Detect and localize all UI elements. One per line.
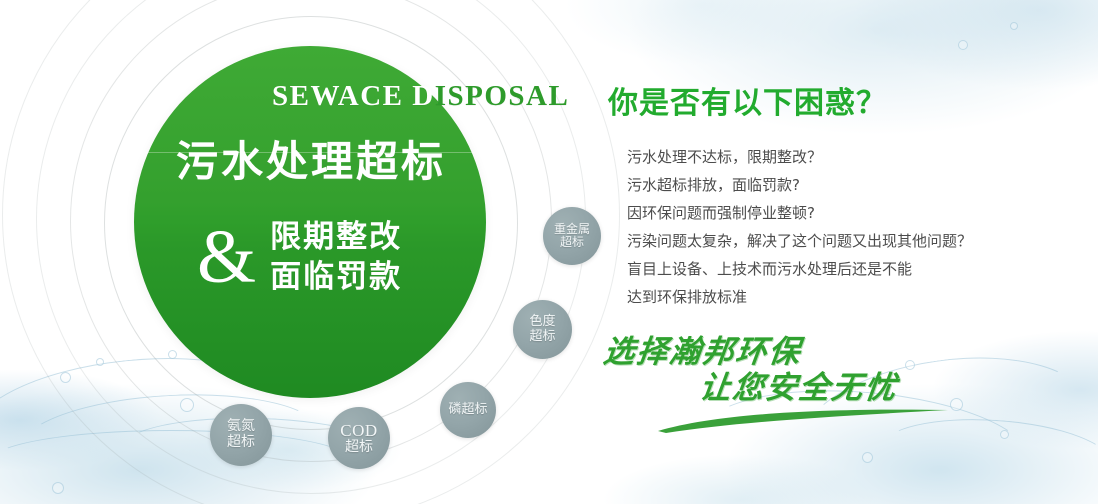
- water-droplet: [862, 452, 873, 463]
- bubble-heavy-metal[interactable]: 重金属 超标: [543, 207, 601, 265]
- water-droplet: [958, 40, 968, 50]
- ampersand-glyph: &: [197, 226, 256, 288]
- bubble-cod-line-2: 超标: [345, 440, 373, 456]
- water-droplet: [1010, 22, 1018, 30]
- water-wave-stroke: [813, 0, 1098, 82]
- promo-banner: SEWACE DISPOSAL 污水处理超标 & 限期整改 面临罚款 氨氮 超标…: [0, 0, 1098, 504]
- bubble-phosphorus[interactable]: 磷超标: [440, 382, 496, 438]
- question-item: 污水处理不达标，限期整改？: [627, 145, 972, 170]
- water-wave-stroke: [0, 430, 352, 492]
- water-droplet: [168, 350, 177, 359]
- water-droplet: [60, 372, 71, 383]
- slogan-block: 选择瀚邦环保 让您安全无忧: [596, 326, 956, 436]
- bubble-heavy-metal-line-1: 重金属: [554, 223, 590, 236]
- water-wave-stroke: [18, 387, 324, 495]
- water-droplet: [180, 398, 194, 412]
- questions-list: 污水处理不达标，限期整改？ 污水超标排放，面临罚款? 因环保问题而强制停业整顿?…: [627, 145, 972, 310]
- questions-title: 你是否有以下困惑？: [608, 78, 887, 122]
- bubble-cod[interactable]: COD 超标: [328, 407, 390, 469]
- question-item: 污水超标排放，面临罚款?: [627, 173, 972, 198]
- bubble-phosphorus-label: 磷超标: [448, 403, 487, 418]
- bubble-ammonia-nitrogen-line-2: 超标: [227, 435, 255, 451]
- hero-eyebrow-outside: ISPOSAL: [435, 80, 570, 112]
- bubble-chroma-line-1: 色度: [529, 315, 555, 330]
- hero-subheadline-block: & 限期整改 面临罚款: [197, 218, 402, 296]
- bubble-ammonia-nitrogen-line-1: 氨氮: [227, 419, 255, 435]
- water-wave-stroke: [880, 0, 1098, 62]
- question-item: 达到环保排放标准: [627, 285, 972, 310]
- hero-eyebrow-inside: SEWACE D: [272, 80, 435, 112]
- water-droplet: [96, 358, 104, 366]
- bubble-heavy-metal-line-2: 超标: [560, 236, 584, 249]
- hero-subheadline-line-1: 限期整改: [270, 218, 402, 256]
- hero-subheadline-lines: 限期整改 面临罚款: [270, 218, 402, 296]
- bubble-cod-line-1: COD: [340, 421, 377, 440]
- hero-eyebrow: SEWACE DISPOSAL: [272, 80, 569, 113]
- question-item: 盲目上设备、上技术而污水处理后还是不能: [627, 257, 972, 282]
- question-item: 污染问题太复杂，解决了这个问题又出现其他问题？: [627, 229, 972, 254]
- hero-headline: 污水处理超标: [176, 128, 446, 189]
- bubble-chroma[interactable]: 色度 超标: [513, 300, 572, 359]
- slogan-line-2: 让您安全无忧: [697, 362, 901, 407]
- slogan-swoosh-icon: [656, 408, 956, 434]
- water-droplet: [52, 482, 64, 494]
- water-droplet: [1000, 430, 1009, 439]
- question-item: 因环保问题而强制停业整顿?: [627, 201, 972, 226]
- bubble-ammonia-nitrogen[interactable]: 氨氮 超标: [210, 404, 272, 466]
- bubble-chroma-line-2: 超标: [529, 330, 555, 345]
- hero-subheadline-line-2: 面临罚款: [270, 258, 402, 296]
